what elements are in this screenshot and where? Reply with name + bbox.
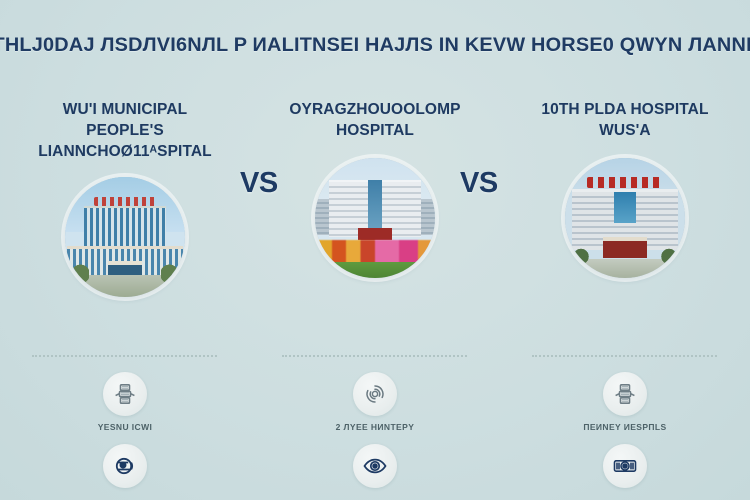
dashed-divider-1: [32, 355, 217, 357]
hospital-name-1: WU'I MUNICIPAL PEOPLE'S LIANNCHOØ11ᴬSPIT…: [22, 100, 227, 163]
feature-column-1: YESNU ICWI: [0, 372, 250, 494]
hospital-column-3[interactable]: 10TH PLDA HOSPITAL WUS'A: [500, 100, 750, 278]
poster-canvas: THLJ0DAJ ЛSDЛVI6NЛL P ИALITNSEI HAJЛS IN…: [0, 0, 750, 500]
vs-separator-2: VS: [460, 167, 498, 200]
feature-item[interactable]: [353, 444, 397, 494]
building-illustration-1: [65, 177, 185, 297]
feature-item[interactable]: ПEИNEY ИESPПLS: [583, 372, 666, 432]
feature-label: ПEИNEY ИESPПLS: [583, 422, 666, 432]
divider-row: [0, 355, 750, 357]
dashed-divider-2: [282, 355, 467, 357]
hospital-name-3: 10TH PLDA HOSPITAL WUS'A: [522, 100, 727, 144]
building-illustration-3: [565, 158, 685, 278]
feature-label: 2 ЛYEE HИNTEPY: [336, 422, 415, 432]
vs-separator-1: VS: [240, 167, 278, 200]
feature-column-2: 2 ЛYEE HИNTEPY: [250, 372, 500, 494]
feature-item[interactable]: [103, 444, 147, 494]
building-illustration-2: [315, 158, 435, 278]
hospital-name-2: OYRAGZHOUOOLOMP HOSPITAL: [272, 100, 477, 144]
hospital-photo-2: [315, 158, 435, 278]
camera-aperture-icon: [103, 444, 147, 488]
eye-icon: [353, 444, 397, 488]
dashed-divider-3: [532, 355, 717, 357]
spiral-scan-icon: [353, 372, 397, 416]
feature-item[interactable]: [603, 444, 647, 494]
feature-item[interactable]: YESNU ICWI: [98, 372, 153, 432]
document-stack-icon: [103, 372, 147, 416]
document-stack-icon: [603, 372, 647, 416]
projector-icon: [603, 444, 647, 488]
hospital-photo-1: [65, 177, 185, 297]
comparison-columns: WU'I MUNICIPAL PEOPLE'S LIANNCHOØ11ᴬSPIT…: [0, 100, 750, 297]
feature-column-3: ПEИNEY ИESPПLS: [500, 372, 750, 494]
page-title: THLJ0DAJ ЛSDЛVI6NЛL P ИALITNSEI HAJЛS IN…: [0, 34, 750, 57]
hospital-column-1[interactable]: WU'I MUNICIPAL PEOPLE'S LIANNCHOØ11ᴬSPIT…: [0, 100, 250, 297]
hospital-photo-3: [565, 158, 685, 278]
feature-item[interactable]: 2 ЛYEE HИNTEPY: [336, 372, 415, 432]
feature-rows: YESNU ICWI: [0, 372, 750, 494]
feature-label: YESNU ICWI: [98, 422, 153, 432]
